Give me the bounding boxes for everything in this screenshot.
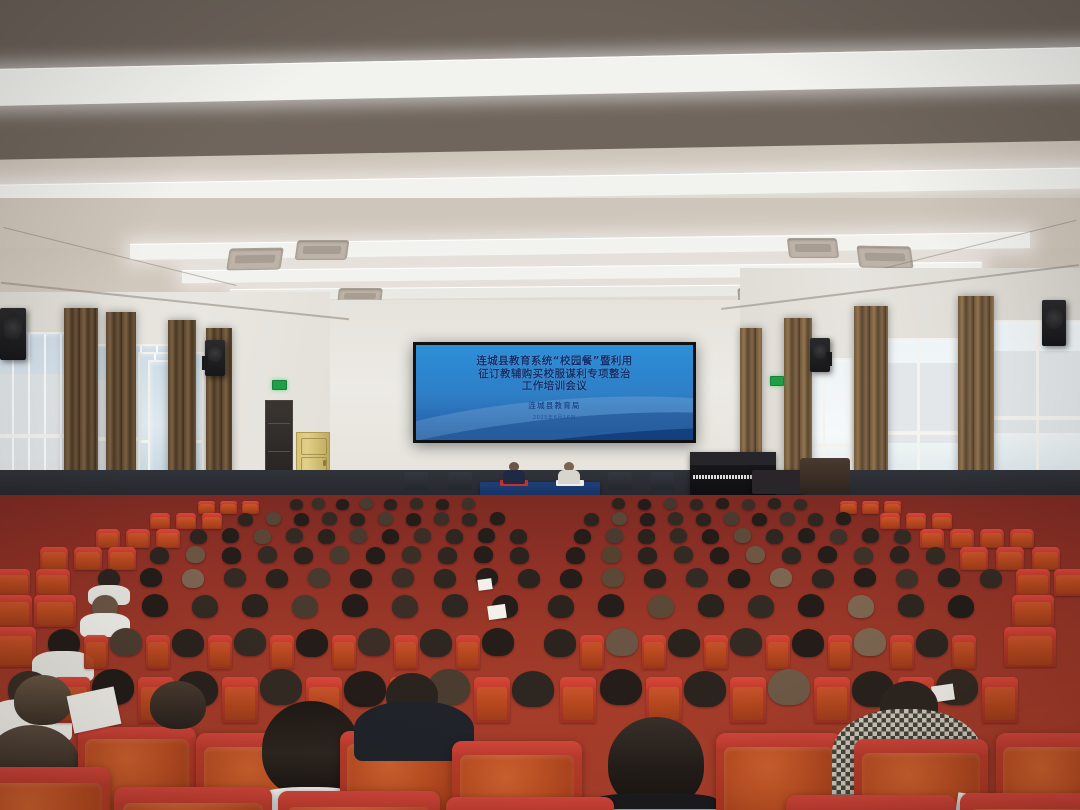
audience-head [798,528,815,543]
exit-sign-left [272,380,287,390]
head-table-person-left [503,462,525,484]
audience-head [862,528,879,543]
speaker-right-rear-bracket [826,352,832,366]
audience-head [668,512,683,525]
audience-head [286,528,303,543]
audience-head [638,499,651,510]
audience-head [402,546,421,563]
audience-head [224,568,246,587]
seat[interactable] [34,595,76,627]
audience-head [290,499,303,510]
ceiling-vent-right-1 [856,246,913,269]
foreground-seat-near-5[interactable] [786,795,956,810]
audience-head [684,671,726,707]
seat[interactable] [906,513,926,529]
audience-head [478,528,495,543]
seat[interactable] [270,635,294,669]
audience-head [410,498,423,509]
seat[interactable] [146,635,170,669]
seat[interactable] [814,677,850,723]
audience-head [602,546,621,563]
audience-head [812,569,834,588]
audience-head [768,498,781,509]
audience-head [730,628,762,656]
audience-head [434,512,449,525]
audience-head [938,568,960,587]
audience-head [266,569,288,588]
head-table-person-right [558,462,580,484]
audience-head [948,595,974,618]
audience-head [818,546,837,563]
audience-head [462,513,477,526]
audience-head [242,594,268,617]
audience-head [792,629,824,657]
stage-chair-1 [404,472,428,490]
audience-head [258,546,277,563]
seat[interactable] [126,529,150,548]
seat[interactable] [932,513,952,529]
audience-head [584,513,599,526]
ceiling-vent-left-2 [295,240,350,260]
seat[interactable] [456,635,480,669]
seat[interactable] [980,529,1004,548]
audience-head [438,547,457,564]
seat[interactable] [84,635,108,669]
seat[interactable] [828,635,852,669]
audience-head [254,529,271,544]
foreground-seat-near-2[interactable] [114,787,272,810]
audience-head [336,499,349,510]
handout-paper [477,578,492,591]
audience-head [854,628,886,656]
audience-head [606,628,638,656]
audience-head [360,498,373,509]
audience-head [696,513,711,526]
audience-head [392,595,418,618]
foreground-seat-near-1[interactable] [0,767,110,810]
audience-head [292,595,318,618]
seat[interactable] [996,547,1024,570]
seat[interactable] [150,513,170,529]
piano-bench [752,470,804,494]
seat[interactable] [202,513,222,529]
foreground-seat-near-3[interactable] [278,791,440,810]
seat[interactable] [920,529,944,548]
audience-head [510,529,527,544]
audience-head [752,513,767,526]
audience-head [260,669,302,705]
audience-head [190,529,207,544]
audience-head [414,528,431,543]
seat[interactable] [960,547,988,570]
audience-head [916,629,948,657]
audience-head [462,498,475,509]
seat[interactable] [208,635,232,669]
polo-collar [596,793,716,809]
audience-head [890,546,909,563]
audience-head [420,629,452,657]
audience-head [898,594,924,617]
seat[interactable] [890,635,914,669]
screen-text-block: 连城县教育系统“校园餐”暨利用 征订教辅购买校服谋利专项整治 工作培训会议 连城… [416,355,693,421]
audience-head [638,529,655,544]
seat[interactable] [1032,547,1060,570]
seat[interactable] [862,501,879,514]
seat[interactable] [580,635,604,669]
seat[interactable] [36,569,70,596]
seat[interactable] [0,627,36,667]
audience-head [182,569,204,588]
audience-head [312,498,325,509]
stage-chair-2 [448,472,472,490]
audience-head [512,671,554,707]
seat[interactable] [560,677,596,723]
audience-head [382,529,399,544]
seat[interactable] [1004,627,1056,667]
seat[interactable] [766,635,790,669]
audience-head [446,529,463,544]
speaker-left-rear-bracket [202,356,208,370]
seat[interactable] [646,677,682,723]
seat[interactable] [730,677,766,723]
audience-head [600,669,642,705]
audience-head [612,512,627,525]
audience-head [490,512,505,525]
audience-head [574,529,591,544]
exit-sign-right [770,376,784,386]
audience-head [702,529,719,544]
stage-side-equipment [800,458,850,494]
seat[interactable] [1054,569,1080,596]
audience-head [350,513,365,526]
foreground-head-2 [14,675,72,725]
audience-head [378,512,393,525]
seat[interactable] [982,677,1018,723]
speaker-right-front [1042,300,1066,346]
seat[interactable] [1010,529,1034,548]
ceiling-vent-right-2 [787,238,839,258]
audience-head [266,512,281,525]
screen-title-line-3: 工作培训会议 [416,380,693,393]
seat[interactable] [394,635,418,669]
seat[interactable] [950,529,974,548]
audience-head [606,528,623,543]
audience-head [836,512,851,525]
audience-head [782,547,801,564]
audience-head [780,512,795,525]
audience-head [294,547,313,564]
foreground-seat-near-6[interactable] [960,793,1080,810]
audience-head [896,569,918,588]
audience-head [384,499,397,510]
audience-head [442,594,468,617]
stage-chair-3 [608,472,632,490]
speaker-left-rear [205,340,225,376]
seat[interactable] [642,635,666,669]
audience-head [150,547,169,564]
audience-head [308,568,330,587]
screen-title-line-1: 连城县教育系统“校园餐”暨利用 [416,355,693,368]
ceiling-vent-left-1 [226,248,284,271]
audience-head [766,529,783,544]
audience-head [344,671,386,707]
audience-head [674,546,693,563]
audience-head [222,547,241,564]
audience-head [794,499,807,510]
seat[interactable] [40,547,68,570]
seat[interactable] [74,547,102,570]
audience-head [734,528,751,543]
audience-head [716,498,729,509]
audience-head [768,669,810,705]
audience-head [690,499,703,510]
audience-head [648,595,674,618]
audience-head [598,594,624,617]
led-screen[interactable]: 连城县教育系统“校园餐”暨利用 征订教辅购买校服谋利专项整治 工作培训会议 连城… [413,342,696,443]
seat[interactable] [332,635,356,669]
audience-head [434,569,456,588]
seat[interactable] [0,595,32,627]
seat[interactable] [1016,569,1050,596]
audience-head [140,568,162,587]
audience-head [358,628,390,656]
audience-head [980,569,1002,588]
led-screen-surface: 连城县教育系统“校园餐”暨利用 征订教辅购买校服谋利专项整治 工作培训会议 连城… [416,345,693,440]
audience-head [350,569,372,588]
audience-head [474,546,493,563]
audience-head [234,628,266,656]
audience-head [482,628,514,656]
audience-head [296,629,328,657]
audience-head [330,546,349,563]
audience-head [192,595,218,618]
audience-head [238,513,253,526]
audience-head [710,547,729,564]
audience-head [746,546,765,563]
handout-paper [487,604,507,620]
audience-head [644,569,666,588]
audience-head [406,513,421,526]
audience-head [728,569,750,588]
audience-head [664,498,677,509]
audience-head [848,595,874,618]
audience-head [926,547,945,564]
audience-head [640,513,655,526]
audience-head [350,528,367,543]
seat[interactable] [220,501,237,514]
audience-head [366,547,385,564]
audience-head [742,499,755,510]
screen-organization: 连城县教育局 [416,400,693,411]
audience-head [222,528,239,543]
audience-head [544,629,576,657]
audience-head [670,528,687,543]
auditorium-photo: 连城县教育系统“校园餐”暨利用 征订教辅购买校服谋利专项整治 工作培训会议 连城… [0,0,1080,810]
audience-head [392,568,414,587]
audience-head [510,547,529,564]
seat[interactable] [222,677,258,723]
seat[interactable] [0,569,30,596]
audience-head [186,546,205,563]
audience-head [294,513,309,526]
audience-head [854,568,876,587]
audience-head [668,629,700,657]
audience-head [894,529,911,544]
audience-head [770,568,792,587]
audience-head [322,512,337,525]
seat[interactable] [108,547,136,570]
audience-head [566,547,585,564]
audience-head [808,513,823,526]
seat[interactable] [704,635,728,669]
audience-head [142,594,168,617]
audience-head [798,594,824,617]
audience-head [602,568,624,587]
foreground-seat-near-4[interactable] [446,797,614,810]
seat[interactable] [96,529,120,548]
seat[interactable] [156,529,180,548]
audience-head [518,569,540,588]
seat[interactable] [1012,595,1054,627]
audience-head [724,512,739,525]
seat[interactable] [952,635,976,669]
screen-title-line-2: 征订教辅购买校服谋利专项整治 [416,368,693,381]
audience-head [110,628,142,656]
seat[interactable] [880,513,900,529]
audience-head [560,569,582,588]
audience-head [612,498,625,509]
foreground-head-3 [150,681,206,729]
seat[interactable] [474,677,510,723]
speaker-left-front [0,308,26,360]
stage-chair-4 [650,472,674,490]
audience-head [172,629,204,657]
screen-date: 2025年6月16日 [416,414,693,421]
audience-head [436,499,449,510]
audience-head [638,547,657,564]
audience-head [548,595,574,618]
audience-head [698,594,724,617]
audience-head [342,594,368,617]
audience-head [748,595,774,618]
audience-head [854,547,873,564]
audience-head [686,568,708,587]
seat[interactable] [176,513,196,529]
audience-seating [0,495,1080,810]
audience-head [318,529,335,544]
audience-head [830,529,847,544]
